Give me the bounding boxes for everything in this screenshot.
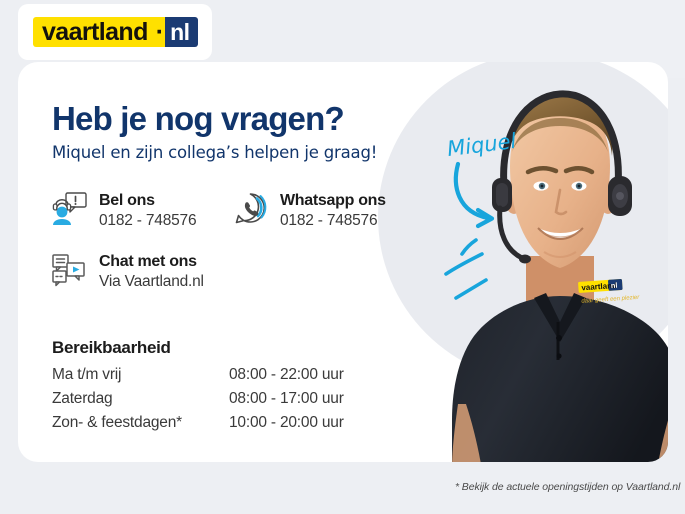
table-row: Zaterdag 08:00 - 17:00 uur xyxy=(52,390,344,414)
hours-time: 08:00 - 22:00 uur xyxy=(229,366,344,390)
hours-time: 10:00 - 20:00 uur xyxy=(229,414,344,438)
contact-call[interactable]: Bel ons 0182 - 748576 xyxy=(50,190,196,232)
hours-day: Ma t/m vrij xyxy=(52,366,229,390)
contact-whatsapp-value[interactable]: 0182 - 748576 xyxy=(280,212,377,229)
contact-call-title: Bel ons xyxy=(99,192,155,209)
headset-person-icon xyxy=(50,190,88,228)
brand-logo-dot: · xyxy=(156,17,165,47)
svg-text:nl: nl xyxy=(611,281,618,290)
table-row: Zon- & feestdagen* 10:00 - 20:00 uur xyxy=(52,414,344,438)
page-subtitle: Miquel en zijn collega’s helpen je graag… xyxy=(52,143,377,162)
brand-logo: vaartland · nl xyxy=(33,17,198,47)
brand-logo-tld: nl xyxy=(165,17,197,47)
contact-whatsapp[interactable]: Whatsapp ons 0182 - 748576 xyxy=(231,190,386,232)
brand-logo-word: vaartland xyxy=(33,17,156,47)
footnote: * Bekijk de actuele openingstijden op Va… xyxy=(455,481,680,493)
contact-chat-title: Chat met ons xyxy=(99,253,197,270)
speed-lines-icon xyxy=(440,238,520,313)
hours-table: Ma t/m vrij 08:00 - 22:00 uur Zaterdag 0… xyxy=(52,366,344,438)
whatsapp-icon xyxy=(231,190,269,228)
promo-banner: vaartland · nl xyxy=(0,0,685,514)
hours-time: 08:00 - 17:00 uur xyxy=(229,390,344,414)
hours-title: Bereikbaarheid xyxy=(52,338,171,358)
hours-day: Zon- & feestdagen* xyxy=(52,414,229,438)
contact-call-value[interactable]: 0182 - 748576 xyxy=(99,212,196,229)
page-title: Heb je nog vragen? xyxy=(52,100,344,138)
contact-whatsapp-title: Whatsapp ons xyxy=(280,192,386,209)
hours-day: Zaterdag xyxy=(52,390,229,414)
brand-logo-card[interactable]: vaartland · nl xyxy=(18,4,212,60)
table-row: Ma t/m vrij 08:00 - 22:00 uur xyxy=(52,366,344,390)
contact-chat-value[interactable]: Via Vaartland.nl xyxy=(99,273,204,290)
chat-bubbles-icon xyxy=(50,251,88,289)
curved-arrow-icon xyxy=(440,160,540,240)
contact-chat[interactable]: Chat met ons Via Vaartland.nl xyxy=(50,251,204,293)
